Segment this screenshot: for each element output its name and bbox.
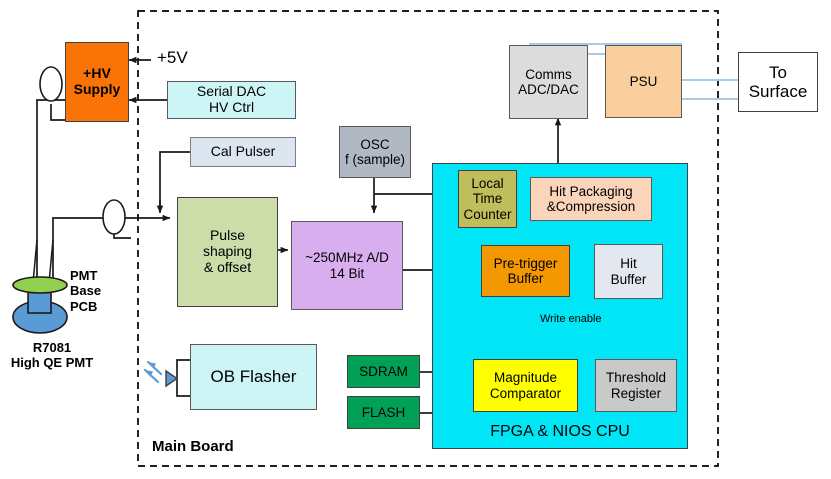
label-write-enable: Write enable	[540, 313, 602, 326]
fpga-label: FPGA & NIOS CPU	[432, 423, 688, 442]
block-hit-buffer[interactable]: Hit Buffer	[594, 244, 663, 299]
wire-hv-connector-stub	[51, 104, 65, 120]
pmt-red-band	[27, 289, 52, 294]
pmt-neck	[28, 291, 51, 313]
block-serial-dac-hv-ctrl[interactable]: Serial DAC HV Ctrl	[167, 81, 296, 119]
block-sdram[interactable]: SDRAM	[347, 355, 420, 388]
block-threshold-register[interactable]: Threshold Register	[595, 359, 677, 412]
wire-obflasher-led-top	[177, 360, 190, 377]
hv-cable-connector-icon	[40, 67, 62, 101]
block-adc[interactable]: ~250MHz A/D 14 Bit	[291, 221, 403, 310]
block-to-surface[interactable]: To Surface	[738, 52, 818, 112]
block-osc[interactable]: OSC f (sample)	[339, 126, 411, 178]
block-hv-supply[interactable]: +HV Supply	[65, 42, 129, 122]
pmt-base-pcb-disc	[13, 277, 67, 293]
wire-signal-connector-stub	[114, 218, 131, 238]
pmt-leads	[33, 240, 53, 283]
block-pulse-shaping[interactable]: Pulse shaping & offset	[177, 197, 278, 307]
label-5v-rail: +5V	[157, 48, 188, 68]
block-diagram-canvas: +HV Supply Serial DAC HV Ctrl Cal Pulser…	[0, 0, 831, 479]
signal-cable-connector-icon	[103, 200, 125, 234]
label-pmt-base-pcb: PMT Base PCB	[70, 268, 101, 314]
block-flash[interactable]: FLASH	[347, 396, 420, 429]
block-magnitude-comparator[interactable]: Magnitude Comparator	[473, 359, 578, 412]
block-hit-packaging-compression[interactable]: Hit Packaging &Compression	[530, 177, 652, 221]
wire-hv-to-pmt	[37, 100, 65, 283]
block-psu[interactable]: PSU	[605, 45, 682, 118]
block-ob-flasher[interactable]: OB Flasher	[190, 344, 317, 410]
block-cal-pulser[interactable]: Cal Pulser	[190, 137, 296, 167]
pmt-bulb	[13, 301, 67, 333]
block-local-time-counter[interactable]: Local Time Counter	[458, 170, 517, 228]
block-comms-adc-dac[interactable]: Comms ADC/DAC	[509, 45, 588, 119]
block-pre-trigger-buffer[interactable]: Pre-trigger Buffer	[481, 245, 570, 297]
label-pmt-type: R7081 High QE PMT	[2, 340, 102, 371]
pmt-symbol	[13, 277, 67, 333]
label-main-board: Main Board	[152, 438, 234, 456]
led-emission-arrows	[145, 362, 161, 382]
led-symbol	[166, 370, 177, 387]
wire-obflasher-led-bottom	[177, 379, 190, 396]
